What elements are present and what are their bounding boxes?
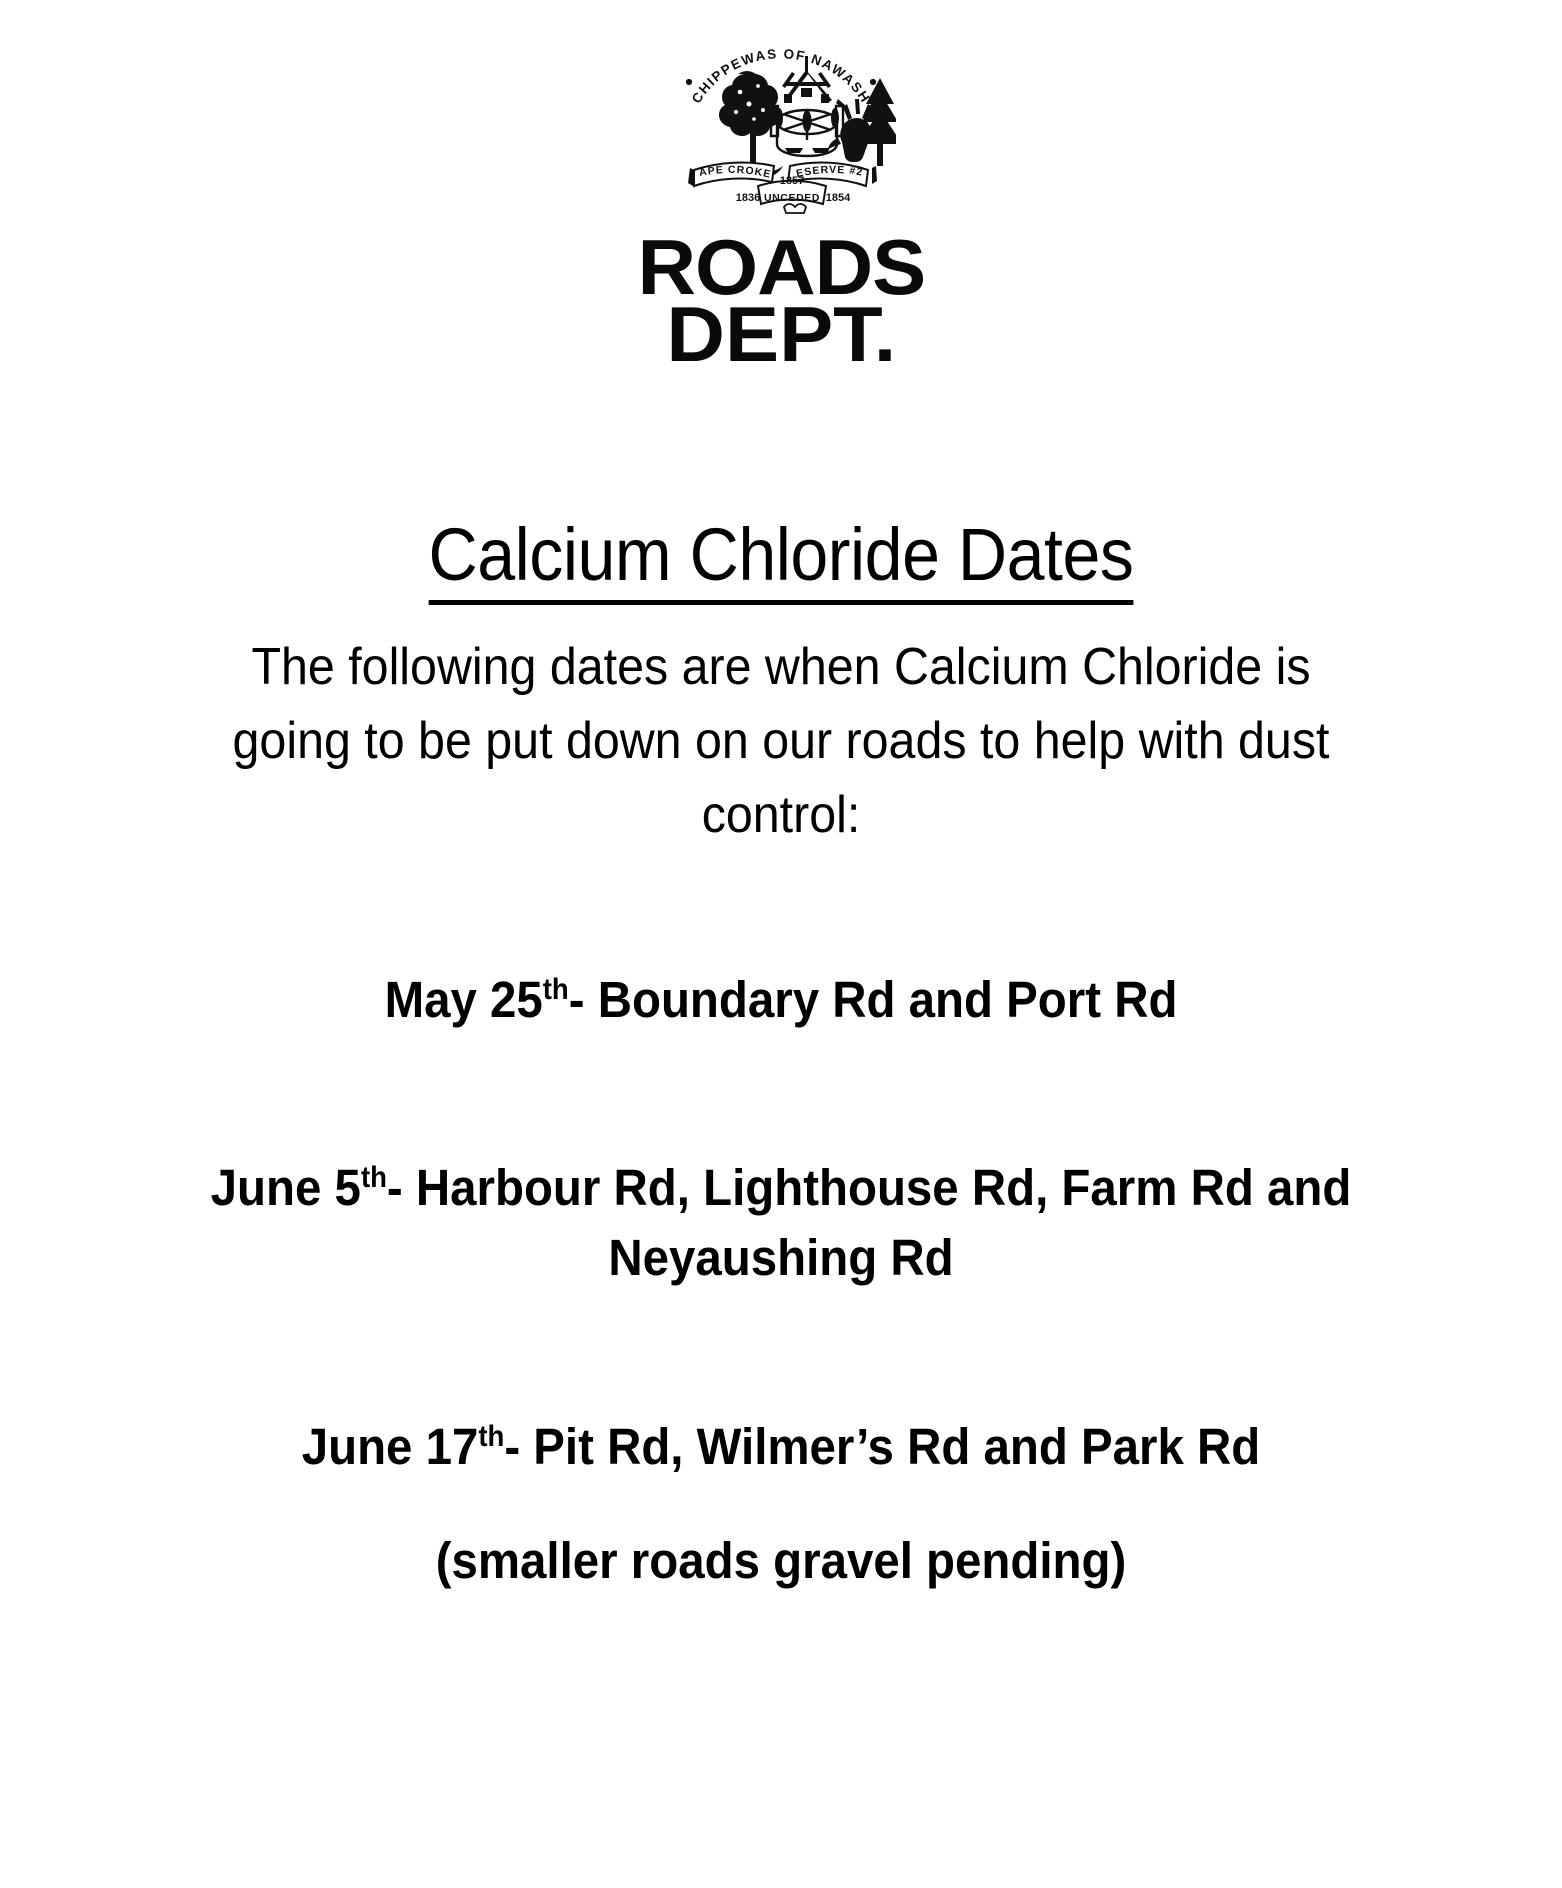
- svg-text:CHIPPEWAS OF NAWASH: CHIPPEWAS OF NAWASH: [689, 46, 874, 106]
- schedule-entry-3: June 17th- Pit Rd, Wilmer’s Rd and Park …: [177, 1412, 1386, 1597]
- schedule-ordinal-3: th: [478, 1420, 504, 1453]
- schedule-entry-2: June 5th- Harbour Rd, Lighthouse Rd, Far…: [177, 1153, 1386, 1294]
- svg-text:1857: 1857: [780, 175, 804, 187]
- svg-text:1836: 1836: [736, 192, 760, 204]
- intro-paragraph: The following dates are when Calcium Chl…: [195, 631, 1367, 852]
- schedule-date-2: June 5: [211, 1159, 361, 1216]
- schedule-entry-1: May 25th- Boundary Rd and Port Rd: [177, 965, 1386, 1035]
- notice-page: CHIPPEWAS OF NAWASH: [0, 0, 1562, 1888]
- svg-text:UNCEDED: UNCEDED: [764, 192, 820, 204]
- schedule-list: May 25th- Boundary Rd and Port Rd June 5…: [24, 965, 1538, 1597]
- wordmark-line-dept: DEPT.: [637, 301, 925, 368]
- schedule-separator-1: -: [569, 971, 598, 1028]
- page-title-text: Calcium Chloride Dates: [428, 518, 1133, 605]
- schedule-date-3: June 17: [302, 1418, 479, 1475]
- chippewas-of-nawash-crest-icon: CHIPPEWAS OF NAWASH: [666, 26, 896, 218]
- schedule-separator-3: -: [504, 1418, 533, 1475]
- letterhead: CHIPPEWAS OF NAWASH: [0, 0, 1562, 368]
- schedule-roads-1: Boundary Rd and Port Rd: [598, 971, 1178, 1028]
- schedule-separator-2: -: [387, 1159, 416, 1216]
- svg-text:1854: 1854: [826, 192, 851, 204]
- schedule-roads-3: Pit Rd, Wilmer’s Rd and Park Rd: [533, 1418, 1260, 1475]
- notice-body: Calcium Chloride Dates The following dat…: [0, 518, 1562, 1596]
- schedule-date-1: May 25: [385, 971, 543, 1028]
- schedule-ordinal-1: th: [543, 973, 569, 1006]
- schedule-ordinal-2: th: [361, 1161, 387, 1194]
- schedule-note-3: (smaller roads gravel pending): [177, 1526, 1386, 1596]
- schedule-roads-2: Harbour Rd, Lighthouse Rd, Farm Rd and N…: [416, 1159, 1351, 1286]
- roads-dept-wordmark: ROADS DEPT.: [637, 234, 925, 368]
- page-title: Calcium Chloride Dates: [85, 518, 1478, 605]
